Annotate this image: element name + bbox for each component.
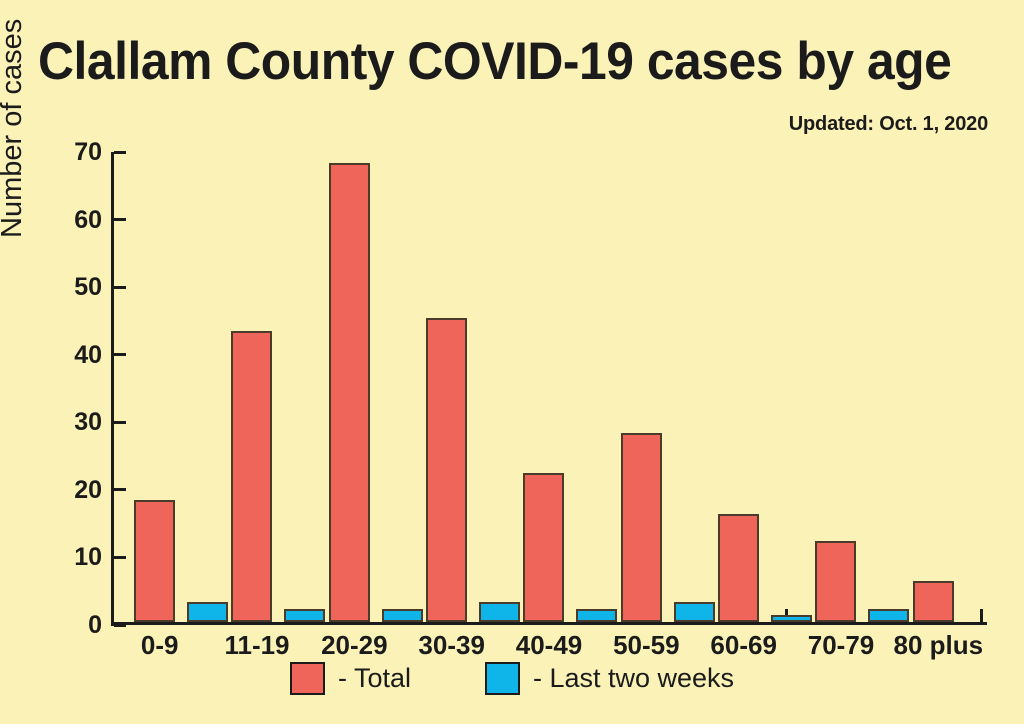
x-axis-label-60-69: 60-69 <box>695 630 792 661</box>
y-axis-tick-label: 70 <box>36 140 102 165</box>
x-axis-label-11-19: 11-19 <box>208 630 305 661</box>
chart-legend: - Total - Last two weeks <box>0 662 1024 695</box>
bar-total-60-69 <box>718 514 759 622</box>
y-axis-tick-label: 60 <box>36 208 102 233</box>
legend-swatch-total-icon <box>290 662 325 695</box>
y-axis-tick <box>114 488 126 491</box>
y-axis-tick-label: 50 <box>36 275 102 300</box>
x-axis-label-70-79: 70-79 <box>792 630 889 661</box>
bar-recent-60-69 <box>771 615 812 622</box>
bar-total-20-29 <box>329 163 370 622</box>
y-axis-line <box>111 152 114 626</box>
y-axis-tick <box>114 218 126 221</box>
bar-total-50-59 <box>621 433 662 622</box>
bar-recent-30-39 <box>479 602 520 622</box>
plot-area <box>111 152 987 625</box>
chart-figure: Clallam County COVID-19 cases by age Upd… <box>0 0 1024 724</box>
y-axis-tick-label: 30 <box>36 410 102 435</box>
legend-item-last-two-weeks: - Last two weeks <box>485 662 734 695</box>
y-axis-tick <box>114 556 126 559</box>
x-axis-label-50-59: 50-59 <box>598 630 695 661</box>
y-axis-tick <box>114 151 126 154</box>
legend-swatch-last-two-weeks-icon <box>485 662 520 695</box>
bar-recent-20-29 <box>382 609 423 623</box>
y-axis-tick <box>114 286 126 289</box>
y-axis-tick-label: 0 <box>36 613 102 638</box>
x-axis-label-20-29: 20-29 <box>306 630 403 661</box>
x-axis-tick <box>980 609 983 622</box>
x-axis-label-0-9: 0-9 <box>111 630 208 661</box>
bar-recent-11-19 <box>284 609 325 623</box>
x-axis-label-80-plus: 80 plus <box>890 630 987 661</box>
bar-total-40-49 <box>523 473 564 622</box>
y-axis-tick-label: 40 <box>36 343 102 368</box>
y-axis-tick <box>114 353 126 356</box>
y-axis-tick-label: 20 <box>36 478 102 503</box>
y-axis-title: Number of cases <box>0 19 29 238</box>
bar-recent-40-49 <box>576 609 617 623</box>
x-axis-label-30-39: 30-39 <box>403 630 500 661</box>
bar-recent-0-9 <box>187 602 228 622</box>
y-axis-tick <box>114 421 126 424</box>
bar-total-30-39 <box>426 318 467 622</box>
legend-label-total: - Total <box>338 663 411 694</box>
legend-label-last-two-weeks: - Last two weeks <box>533 663 734 694</box>
x-axis-label-40-49: 40-49 <box>500 630 597 661</box>
bar-total-0-9 <box>134 500 175 622</box>
bar-recent-70-79 <box>868 609 909 623</box>
legend-item-total: - Total <box>290 662 411 695</box>
updated-date-label: Updated: Oct. 1, 2020 <box>789 113 988 136</box>
y-axis-tick-label: 10 <box>36 545 102 570</box>
y-axis-tick <box>114 624 126 627</box>
x-axis-line <box>111 622 987 625</box>
bar-total-70-79 <box>815 541 856 622</box>
bar-recent-50-59 <box>674 602 715 622</box>
chart-title: Clallam County COVID-19 cases by age <box>38 34 951 90</box>
bar-total-11-19 <box>231 331 272 622</box>
bar-total-80-plus <box>913 581 954 622</box>
